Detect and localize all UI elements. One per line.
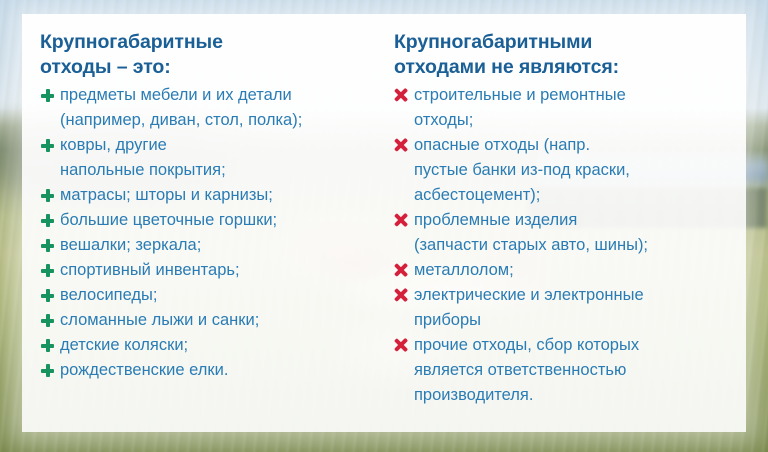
list-item-line: проблемные изделия [414, 208, 742, 233]
list-item-line: производителя. [414, 383, 742, 408]
list-item-line: асбестоцемент); [414, 183, 742, 208]
list-item: большие цветочные горшки; [40, 208, 384, 233]
list-item: матрасы; шторы и карнизы; [40, 183, 384, 208]
heading-excluded-line1: Крупногабаритными [394, 30, 742, 55]
list-item-line: прочие отходы, сбор которых [414, 333, 742, 358]
heading-included-line2: отходы – это: [40, 55, 384, 80]
list-item: сломанные лыжи и санки; [40, 308, 384, 333]
list-item-line: строительные и ремонтные [414, 83, 742, 108]
heading-included: Крупногабаритные отходы – это: [40, 30, 384, 80]
list-item-line: опасные отходы (напр. [414, 133, 742, 158]
list-item-line: велосипеды; [60, 283, 384, 308]
list-item: проблемные изделия(запчасти старых авто,… [394, 208, 742, 258]
green-plus-icon [41, 239, 54, 252]
list-item: вешалки; зеркала; [40, 233, 384, 258]
list-item-line: отходы; [414, 108, 742, 133]
list-item: рождественские елки. [40, 358, 384, 383]
column-excluded: Крупногабаритными отходами не являются: … [390, 14, 746, 432]
list-item-line: ковры, другие [60, 133, 384, 158]
list-item: металлолом; [394, 258, 742, 283]
green-plus-icon [41, 339, 54, 352]
list-item-line: вешалки; зеркала; [60, 233, 384, 258]
red-cross-icon [394, 88, 408, 102]
infographic-poster: Крупногабаритные отходы – это: предметы … [0, 0, 768, 452]
red-cross-icon [394, 138, 408, 152]
list-item: велосипеды; [40, 283, 384, 308]
list-item: прочие отходы, сбор которыхявляется отве… [394, 333, 742, 408]
list-item: ковры, другиенапольные покрытия; [40, 133, 384, 183]
list-excluded: строительные и ремонтныеотходы;опасные о… [394, 83, 742, 408]
green-plus-icon [41, 89, 54, 102]
green-plus-icon [41, 314, 54, 327]
heading-included-line1: Крупногабаритные [40, 30, 384, 55]
list-included: предметы мебели и их детали(например, ди… [40, 83, 384, 383]
list-item-line: электрические и электронные [414, 283, 742, 308]
red-cross-icon [394, 338, 408, 352]
list-item-line: пустые банки из-под краски, [414, 158, 742, 183]
list-item: строительные и ремонтныеотходы; [394, 83, 742, 133]
red-cross-icon [394, 288, 408, 302]
list-item-line: металлолом; [414, 258, 742, 283]
green-plus-icon [41, 214, 54, 227]
list-item-line: напольные покрытия; [60, 158, 384, 183]
green-plus-icon [41, 189, 54, 202]
heading-excluded: Крупногабаритными отходами не являются: [394, 30, 742, 80]
list-item: опасные отходы (напр.пустые банки из-под… [394, 133, 742, 208]
list-item-line: (запчасти старых авто, шины); [414, 233, 742, 258]
green-plus-icon [41, 364, 54, 377]
list-item: детские коляски; [40, 333, 384, 358]
column-included: Крупногабаритные отходы – это: предметы … [22, 14, 390, 432]
list-item-line: детские коляски; [60, 333, 384, 358]
green-plus-icon [41, 289, 54, 302]
green-plus-icon [41, 264, 54, 277]
list-item-line: спортивный инвентарь; [60, 258, 384, 283]
red-cross-icon [394, 213, 408, 227]
heading-excluded-line2: отходами не являются: [394, 55, 742, 80]
list-item-line: (например, диван, стол, полка); [60, 108, 384, 133]
list-item-line: сломанные лыжи и санки; [60, 308, 384, 333]
red-cross-icon [394, 263, 408, 277]
list-item-line: является ответственностью [414, 358, 742, 383]
list-item-line: рождественские елки. [60, 358, 384, 383]
list-item: электрические и электронныеприборы [394, 283, 742, 333]
list-item-line: приборы [414, 308, 742, 333]
list-item-line: большие цветочные горшки; [60, 208, 384, 233]
list-item: спортивный инвентарь; [40, 258, 384, 283]
list-item: предметы мебели и их детали(например, ди… [40, 83, 384, 133]
list-item-line: матрасы; шторы и карнизы; [60, 183, 384, 208]
content-panel: Крупногабаритные отходы – это: предметы … [22, 14, 746, 432]
green-plus-icon [41, 139, 54, 152]
list-item-line: предметы мебели и их детали [60, 83, 384, 108]
